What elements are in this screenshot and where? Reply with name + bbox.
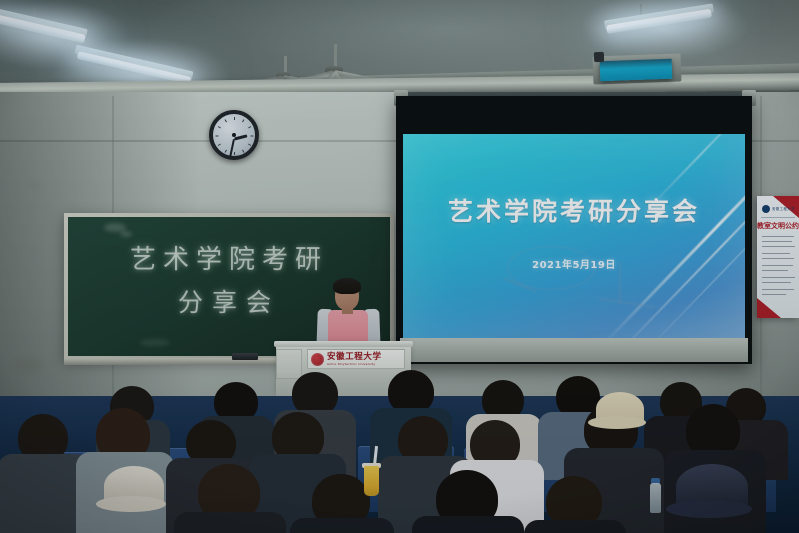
blackboard-text-line-1: 艺术学院考研 (68, 239, 390, 276)
university-emblem-icon (762, 205, 770, 213)
notice-organization: 安徽工程大学 (772, 206, 795, 211)
yellow-drink-cup (364, 466, 379, 496)
slide-date: 2021年5月19日 (403, 256, 745, 271)
blackboard-eraser (232, 353, 258, 360)
projector-mount-bracket (594, 52, 604, 62)
lectern-side-panel (276, 349, 302, 379)
lectern-top-surface (274, 341, 413, 347)
ceiling-projector (600, 59, 673, 82)
clock-center-pin (232, 133, 236, 137)
lectern-organization-cn: 安徽工程大学 (327, 353, 382, 362)
speaker-hair (333, 278, 361, 294)
wall-notice-board: 安徽工程大学 教室文明公约 (757, 196, 799, 318)
notice-title: 教室文明公约 (757, 221, 799, 231)
water-bottle (650, 483, 661, 513)
lecture-hall-photo: 艺术学院考研 分享会 艺术学院考研分享会 2021年5月19日 安徽工程大学 教… (0, 0, 799, 533)
projection-screen-slide: 艺术学院考研分享会 2021年5月19日 (403, 134, 745, 338)
notice-corner-accent-bottom (757, 298, 781, 318)
projection-screen-bottom-bar (400, 338, 748, 362)
university-seal-icon (311, 353, 324, 366)
lectern-nameplate: 安徽工程大学 Anhui Polytechnic University (307, 349, 405, 369)
slide-title: 艺术学院考研分享会 (403, 192, 745, 228)
lectern-organization-en: Anhui Polytechnic University (327, 363, 382, 366)
wall-clock (209, 110, 259, 160)
